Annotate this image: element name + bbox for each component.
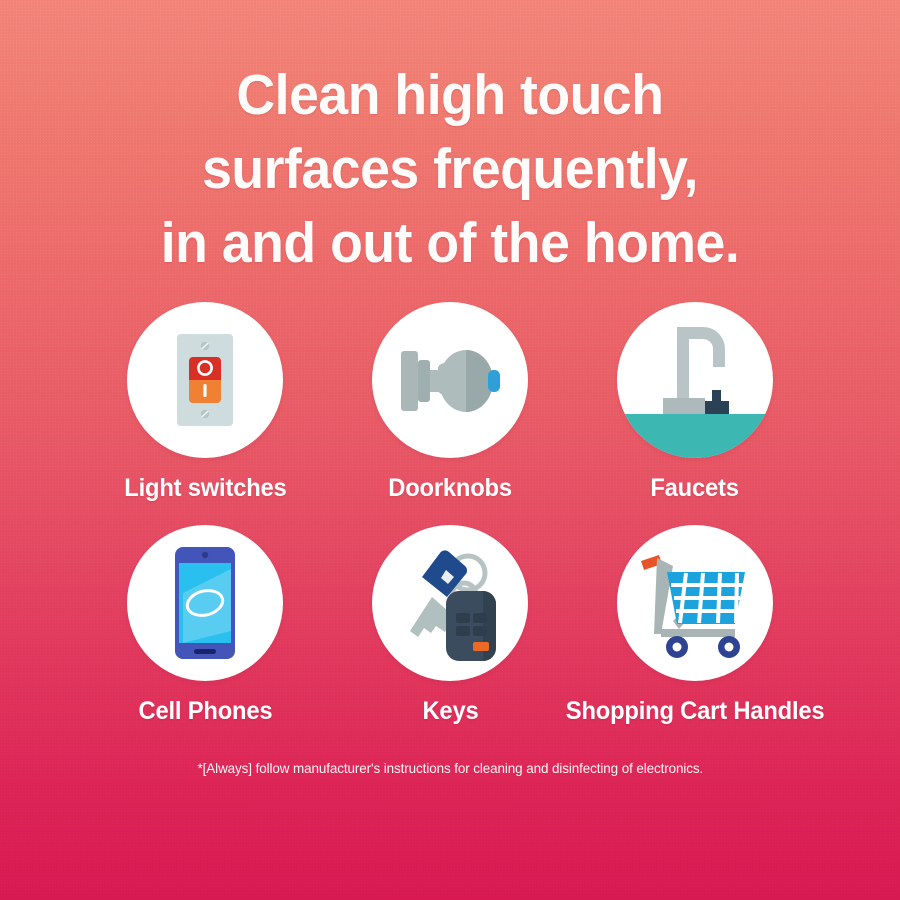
item-cell-phones: Cell Phones [88,525,323,726]
headline-line-1: Clean high touch [60,58,840,132]
item-keys: Keys [333,525,568,726]
item-label: Light switches [124,474,286,503]
headline-line-3: in and out of the home. [60,206,840,280]
icon-bubble [617,525,773,681]
headline-line-2: surfaces frequently, [60,132,840,206]
faucet-icon [617,302,773,458]
item-label: Shopping Cart Handles [566,697,825,726]
item-label: Keys [422,697,478,726]
shopping-cart-icon [617,525,773,681]
icon-bubble [372,302,528,458]
item-faucets: Faucets [578,302,813,503]
icon-bubble [127,302,283,458]
item-shopping-cart-handles: Shopping Cart Handles [578,525,813,726]
item-light-switches: Light switches [88,302,323,503]
cell-phone-icon [127,525,283,681]
icon-bubble [372,525,528,681]
doorknob-icon [372,302,528,458]
keys-icon [372,525,528,681]
item-label: Doorknobs [388,474,512,503]
icon-row-1: Light switches Doorknobs [55,302,845,503]
icon-grid: Light switches Doorknobs [55,302,845,726]
page-title: Clean high touch surfaces frequently, in… [60,0,840,280]
item-label: Faucets [651,474,739,503]
icon-bubble [617,302,773,458]
footnote-disclaimer: *[Always] follow manufacturer's instruct… [197,760,703,776]
item-doorknobs: Doorknobs [333,302,568,503]
light-switch-icon [127,302,283,458]
infographic-poster: Clean high touch surfaces frequently, in… [0,0,900,900]
icon-row-2: Cell Phones [55,525,845,726]
icon-bubble [127,525,283,681]
item-label: Cell Phones [138,697,272,726]
